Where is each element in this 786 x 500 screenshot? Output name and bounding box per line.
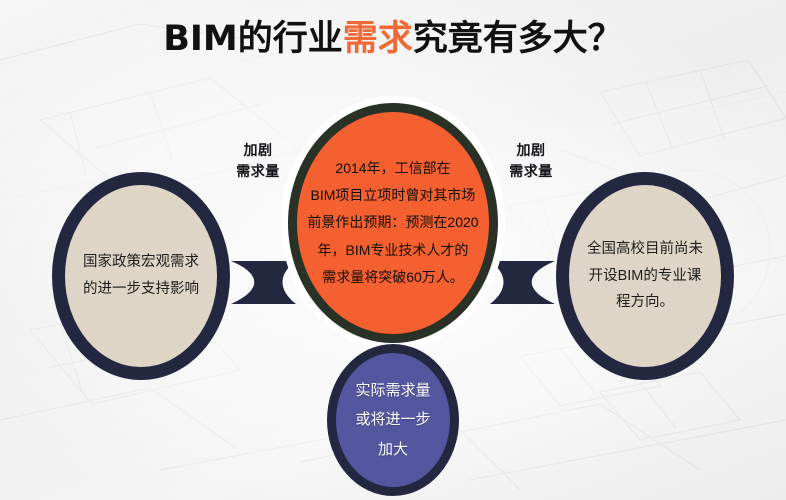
edge-caption-left: 加剧 需求量	[221, 140, 295, 182]
node-left-label: 国家政策宏观需求 的进一步支持影响	[71, 249, 211, 303]
node-right-universities[interactable]: 全国高校目前尚未 开设BIM的专业课 程方向。	[556, 172, 734, 380]
slide-canvas: BIM的行业需求究竟有多大？ 国家政策宏观需求 的进一步支持影响 全国高校目前尚…	[0, 0, 786, 500]
page-title-before: BIM的行业	[163, 19, 343, 59]
page-title-after: 究竟有多大？	[413, 19, 623, 59]
node-center-label: 2014年，工信部在 BIM项目立项时曾对其市场 前景作出预期：预测在2020 …	[297, 155, 488, 291]
edge-caption-right: 加剧 需求量	[494, 140, 568, 182]
page-title-text: BIM的行业需求究竟有多大？	[163, 22, 623, 57]
node-right-label: 全国高校目前尚未 开设BIM的专业课 程方向。	[575, 236, 715, 316]
node-bottom-conclusion[interactable]: 实际需求量 或将进一步 加大	[327, 344, 459, 496]
node-center-forecast[interactable]: 2014年，工信部在 BIM项目立项时曾对其市场 前景作出预期：预测在2020 …	[288, 103, 498, 343]
connector-right-icon	[490, 261, 555, 304]
node-bottom-label: 实际需求量 或将进一步 加大	[343, 376, 442, 464]
connector-left-icon	[231, 261, 296, 304]
diagram-stage: 国家政策宏观需求 的进一步支持影响 全国高校目前尚未 开设BIM的专业课 程方向…	[0, 78, 786, 500]
page-title: BIM的行业需求究竟有多大？	[0, 0, 786, 78]
node-left-policy[interactable]: 国家政策宏观需求 的进一步支持影响	[52, 172, 230, 380]
page-title-highlight: 需求	[343, 19, 413, 59]
